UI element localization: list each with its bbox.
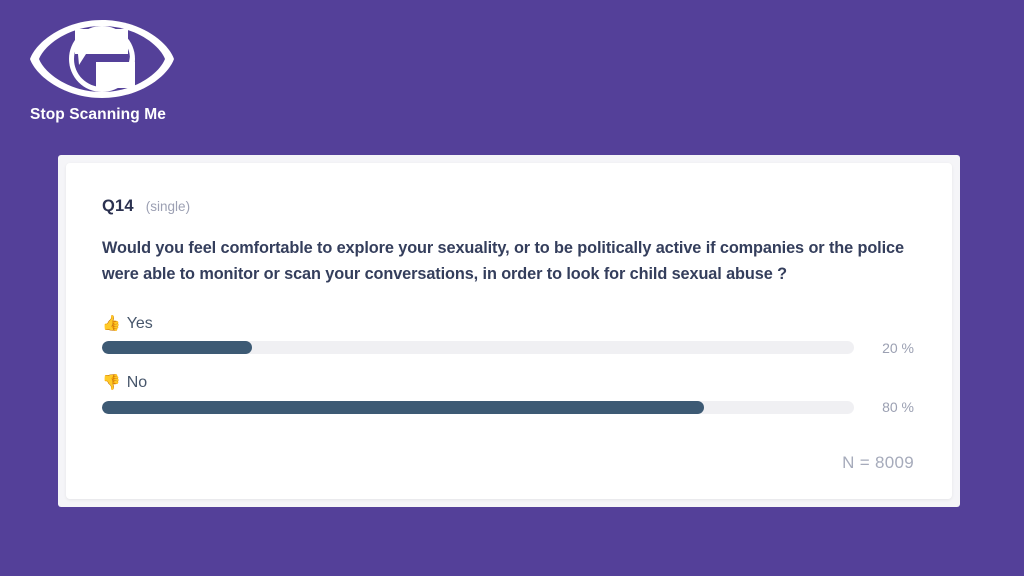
question-text: Would you feel comfortable to explore yo… <box>102 235 914 288</box>
thumbs-up-icon: 👍 <box>102 316 121 331</box>
sample-size: N = 8009 <box>842 453 914 473</box>
option-row-yes: 👍 Yes 20 % <box>102 314 914 356</box>
poll-card: Q14 (single) Would you feel comfortable … <box>66 163 952 499</box>
eye-with-speech-bubbles-icon <box>28 18 176 100</box>
option-text-yes: Yes <box>127 314 153 333</box>
option-meter-yes: 20 % <box>102 340 914 356</box>
option-label-yes: 👍 Yes <box>102 314 914 333</box>
question-id: Q14 <box>102 197 134 216</box>
option-row-no: 👎 No 80 % <box>102 373 914 415</box>
question-header: Q14 (single) <box>102 197 914 216</box>
brand-logo: Stop Scanning Me <box>22 18 202 124</box>
meter-value-no: 80 % <box>882 399 914 415</box>
options-list: 👍 Yes 20 % 👎 No <box>102 314 914 415</box>
meter-fill-yes <box>102 341 252 354</box>
option-meter-no: 80 % <box>102 399 914 415</box>
meter-fill-no <box>102 401 704 414</box>
brand-name: Stop Scanning Me <box>30 106 202 124</box>
question-type: (single) <box>146 199 190 214</box>
poll-card-frame: Q14 (single) Would you feel comfortable … <box>58 155 960 507</box>
meter-track-yes <box>102 341 854 354</box>
option-text-no: No <box>127 373 147 392</box>
option-label-no: 👎 No <box>102 373 914 392</box>
meter-track-no <box>102 401 854 414</box>
thumbs-down-icon: 👎 <box>102 375 121 390</box>
meter-value-yes: 20 % <box>882 340 914 356</box>
